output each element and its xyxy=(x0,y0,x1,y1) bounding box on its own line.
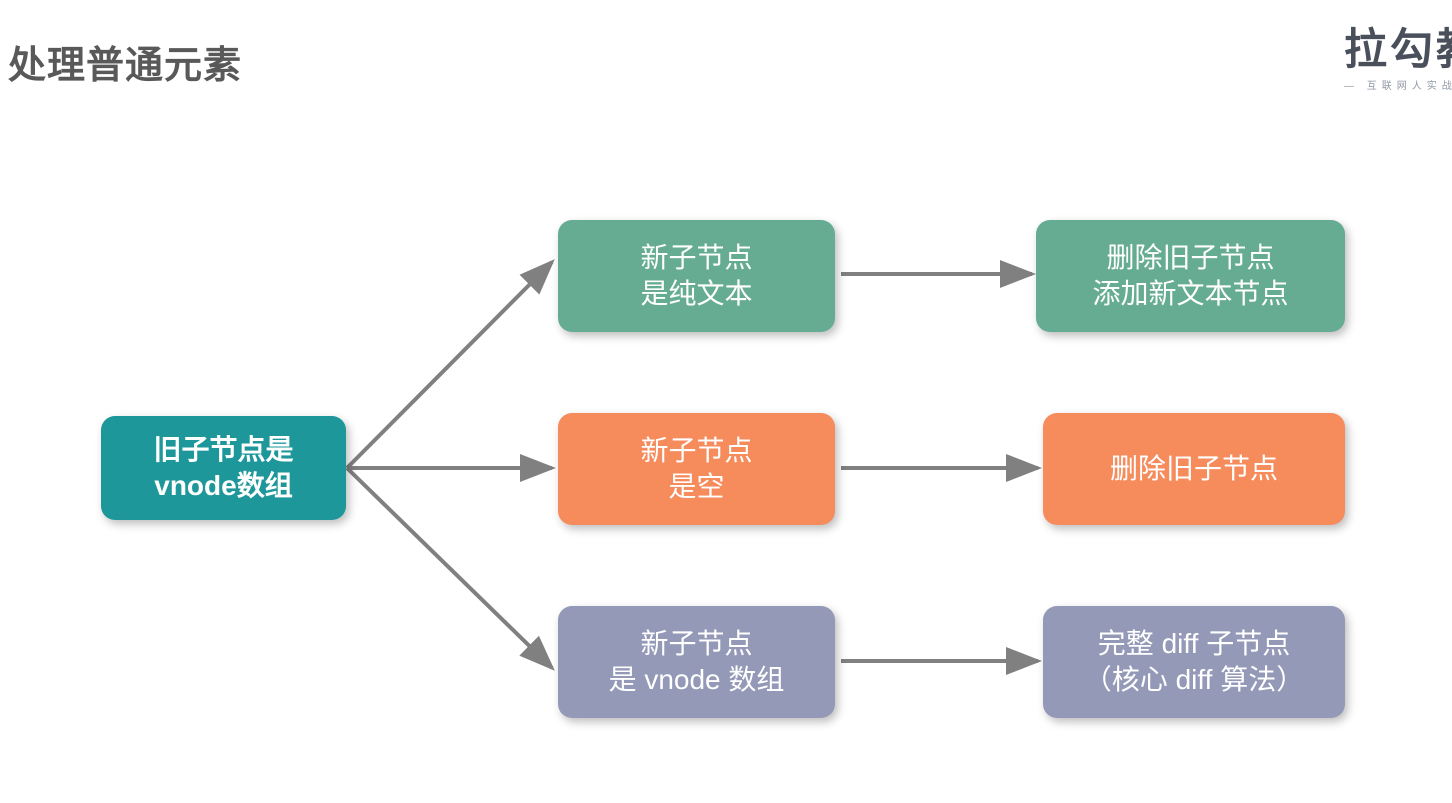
node-label: 新子节点是空 xyxy=(640,433,752,505)
node-remove-old-children[interactable]: 删除旧子节点 xyxy=(1043,413,1345,525)
node-label-line: vnode数组 xyxy=(153,468,293,504)
flowchart-diagram: 旧子节点是vnode数组 新子节点是纯文本 删除旧子节点添加新文本节点 新子节点… xyxy=(0,0,1452,803)
node-new-children-plain-text[interactable]: 新子节点是纯文本 xyxy=(558,220,835,332)
node-label-line: 删除旧子节点 xyxy=(1092,240,1288,276)
node-label-line: 删除旧子节点 xyxy=(1110,451,1278,487)
edge-root-to-array xyxy=(347,468,552,668)
slide-canvas: 处理普通元素 拉勾教 — 互联网人实战 旧子节点是vnode数组 新子节点是纯文… xyxy=(0,0,1452,803)
node-remove-old-add-text[interactable]: 删除旧子节点添加新文本节点 xyxy=(1036,220,1345,332)
node-label-line: 新子节点 xyxy=(640,240,752,276)
node-label-line: 是空 xyxy=(640,469,752,505)
node-label-line: 添加新文本节点 xyxy=(1092,276,1288,312)
node-label-line: 是 vnode 数组 xyxy=(609,662,785,698)
edge-root-to-text xyxy=(347,262,552,468)
node-full-diff-children[interactable]: 完整 diff 子节点（核心 diff 算法） xyxy=(1043,606,1345,718)
node-old-children-vnode-array[interactable]: 旧子节点是vnode数组 xyxy=(101,416,346,520)
node-label-line: 旧子节点是 xyxy=(153,432,293,468)
node-label: 删除旧子节点 xyxy=(1110,451,1278,487)
node-label-line: 完整 diff 子节点 xyxy=(1084,626,1304,662)
node-label-line: 新子节点 xyxy=(609,626,785,662)
node-new-children-vnode-array[interactable]: 新子节点是 vnode 数组 xyxy=(558,606,835,718)
node-label-line: 是纯文本 xyxy=(640,276,752,312)
node-label-line: 新子节点 xyxy=(640,433,752,469)
node-label: 完整 diff 子节点（核心 diff 算法） xyxy=(1084,626,1304,698)
node-label: 旧子节点是vnode数组 xyxy=(153,432,293,504)
node-label: 新子节点是 vnode 数组 xyxy=(609,626,785,698)
node-label-line: （核心 diff 算法） xyxy=(1084,662,1304,698)
node-label: 新子节点是纯文本 xyxy=(640,240,752,312)
node-label: 删除旧子节点添加新文本节点 xyxy=(1092,240,1288,312)
node-new-children-empty[interactable]: 新子节点是空 xyxy=(558,413,835,525)
